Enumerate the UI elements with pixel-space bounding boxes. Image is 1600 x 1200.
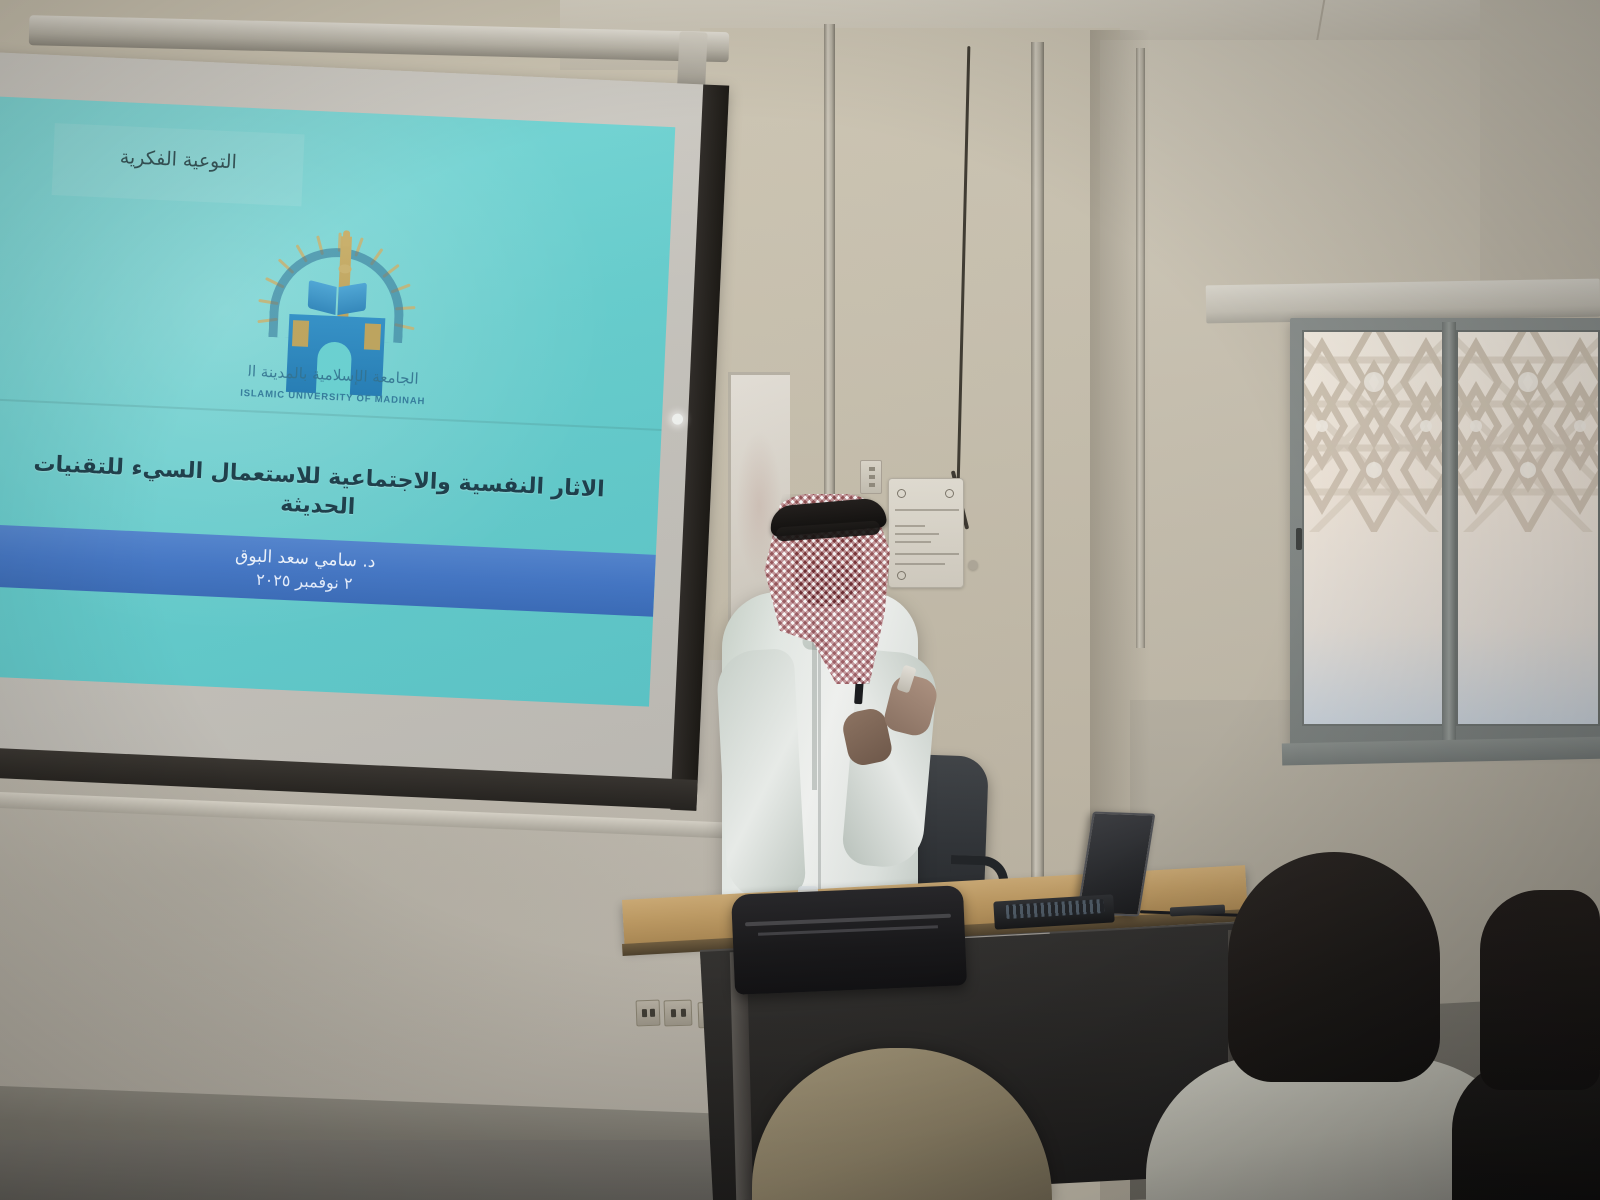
- minaret-finial-icon: [343, 230, 351, 246]
- slide-title: الاثار النفسية والاجتماعية للاستعمال الس…: [7, 449, 629, 534]
- projection-screen: التوعية الفكرية: [0, 52, 729, 825]
- gate-pillar: [364, 323, 381, 350]
- wall-trim-strip: [1136, 48, 1145, 648]
- window-handle[interactable]: [1296, 528, 1302, 550]
- open-book-icon: [307, 283, 366, 316]
- university-logo: الجامعة الإسلامية بالمدينة المنورة ISLAM…: [237, 226, 436, 429]
- switch-toggle[interactable]: [869, 467, 875, 471]
- mashrabiya-lattice-icon: [1304, 332, 1444, 532]
- window-pane-left: [1302, 330, 1446, 726]
- thobe-placket: [812, 640, 817, 790]
- attendee-foreground-right-head: [1228, 852, 1440, 1082]
- mashrabiya-lattice-icon: [1458, 332, 1598, 532]
- outlet-slot: [642, 1009, 647, 1017]
- wall-power-outlet[interactable]: [664, 1000, 693, 1027]
- outlet-slot: [671, 1009, 676, 1017]
- presenter-left-arm: [716, 648, 807, 902]
- screen-surface: التوعية الفكرية: [0, 52, 729, 785]
- wall-power-outlet[interactable]: [636, 1000, 661, 1027]
- screen-roller-bracket: [677, 31, 708, 90]
- window-mullion: [1442, 322, 1456, 746]
- far-right-wall: [1480, 0, 1600, 300]
- switch-toggle[interactable]: [869, 475, 875, 479]
- laptop-bag[interactable]: [731, 885, 967, 995]
- floor: [0, 1140, 760, 1200]
- outlet-slot: [650, 1009, 655, 1017]
- book-left-page: [308, 280, 337, 315]
- wall-knob: [968, 560, 978, 570]
- outlet-slot: [681, 1009, 686, 1017]
- roller-blind-valance[interactable]: [1206, 279, 1600, 324]
- gate-pillar: [292, 320, 309, 347]
- attendee-far-right-head: [1480, 890, 1600, 1090]
- book-right-page: [337, 282, 367, 315]
- lecture-room-photo: التوعية الفكرية: [0, 0, 1600, 1200]
- projected-slide: التوعية الفكرية: [0, 96, 675, 706]
- window-pane-right: [1456, 330, 1600, 726]
